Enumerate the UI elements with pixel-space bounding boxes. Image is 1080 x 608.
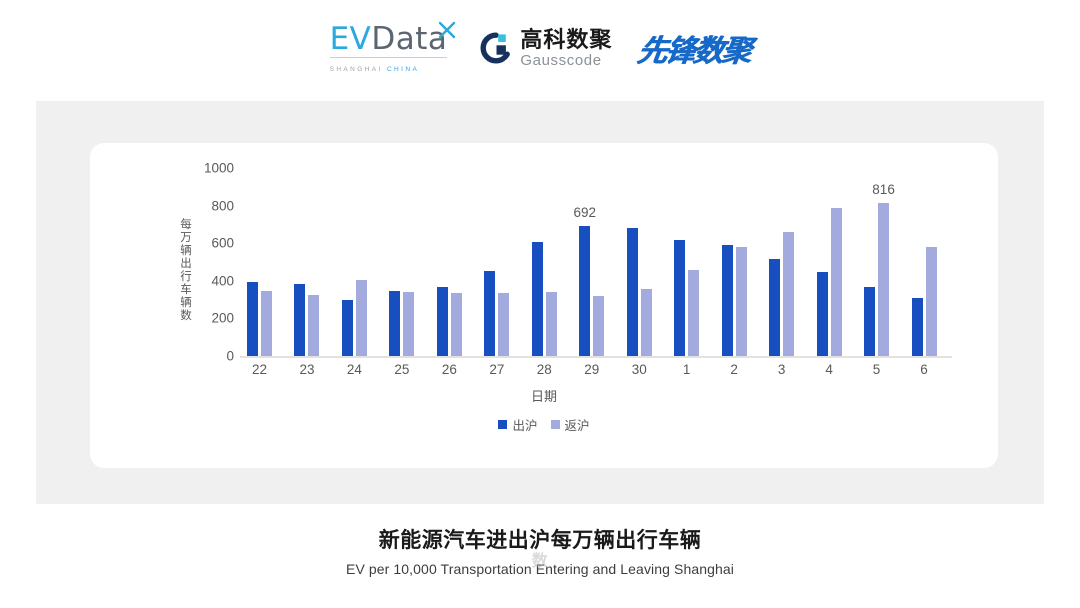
bar-group: [477, 168, 524, 356]
bar-出沪-26: [437, 287, 448, 356]
bar-出沪-2: [722, 245, 733, 356]
plot-area: 692816: [240, 168, 952, 356]
caption-title-cn: 新能源汽车进出沪每万辆出行车辆: [0, 528, 1080, 554]
x-axis-tick: 23: [299, 362, 314, 377]
bar-group: [620, 168, 667, 356]
chart-legend: 出沪返沪: [90, 415, 998, 434]
x-axis-title: 日期: [90, 386, 998, 405]
bar-group: [905, 168, 952, 356]
evdata-country: CHINA: [387, 66, 419, 73]
x-axis-tick: 6: [920, 362, 928, 377]
y-axis-tick: 0: [226, 349, 234, 364]
evdata-data-text: Data: [371, 21, 447, 57]
y-axis-title: 每万辆出行车辆数: [178, 219, 194, 323]
legend-item-出沪[interactable]: 出沪: [498, 415, 537, 434]
bar-返沪-30: [641, 289, 652, 356]
bar-出沪-6: [912, 298, 923, 356]
logo-bar: EVData SHANGHAI CHINA 高科数聚 Gausscode 先锋数…: [0, 0, 1080, 96]
bar-返沪-6: [926, 247, 937, 356]
bar-返沪-28: [546, 292, 557, 356]
x-axis-tick: 30: [632, 362, 647, 377]
x-axis-tick: 27: [489, 362, 504, 377]
bar-返沪-26: [451, 293, 462, 356]
legend-label: 返沪: [565, 415, 590, 434]
evdata-wordmark: EVData: [330, 24, 448, 55]
bar-group: [335, 168, 382, 356]
bar-出沪-4: [817, 272, 828, 356]
x-axis-tick: 29: [584, 362, 599, 377]
bar-group: [525, 168, 572, 356]
logo-xianfeng: 先锋数聚: [635, 26, 753, 70]
y-axis-tick: 400: [211, 273, 234, 288]
bar-value-label: 692: [574, 205, 597, 220]
bar-出沪-22: [247, 282, 258, 356]
bar-出沪-3: [769, 259, 780, 356]
bar-group: [287, 168, 334, 356]
bar-返沪-2: [736, 247, 747, 356]
bar-返沪-4: [831, 208, 842, 356]
bar-group: [240, 168, 287, 356]
gausscode-c-mark-icon: [479, 31, 513, 65]
caption-subtitle-en: EV per 10,000 Transportation Entering an…: [0, 561, 1080, 577]
bar-group: [382, 168, 429, 356]
y-axis-tick: 800: [211, 198, 234, 213]
x-cross-icon: [437, 20, 457, 40]
bar-返沪-29: [593, 296, 604, 356]
legend-label: 出沪: [512, 415, 537, 434]
x-axis-tick-labels: 222324252627282930123456: [240, 362, 952, 384]
bar-出沪-25: [389, 291, 400, 356]
bar-返沪-25: [403, 292, 414, 356]
bar-出沪-27: [484, 271, 495, 356]
chart-card: 每万辆出行车辆数 02004006008001000 692816 222324…: [90, 143, 998, 468]
gausscode-text: 高科数聚 Gausscode: [520, 29, 612, 68]
evdata-divider: [330, 57, 448, 58]
bar-返沪-27: [498, 293, 509, 356]
x-axis-tick: 5: [873, 362, 881, 377]
caption-block: 新能源汽车进出沪每万辆出行车辆 数 EV per 10,000 Transpor…: [0, 528, 1080, 577]
evdata-city: SHANGHAI: [330, 66, 383, 73]
legend-swatch-icon: [551, 420, 560, 429]
bar-返沪-5: [878, 203, 889, 356]
x-axis-tick: 22: [252, 362, 267, 377]
x-axis-line: [240, 356, 952, 358]
evdata-subtitle: SHANGHAI CHINA: [330, 66, 420, 73]
bar-返沪-1: [688, 270, 699, 356]
bar-group: [762, 168, 809, 356]
bar-出沪-30: [627, 228, 638, 356]
bar-chart: 每万辆出行车辆数 02004006008001000 692816 222324…: [90, 143, 998, 468]
bar-返沪-23: [308, 295, 319, 356]
legend-item-返沪[interactable]: 返沪: [551, 415, 590, 434]
bar-出沪-29: [579, 226, 590, 356]
bar-value-label: 816: [872, 182, 895, 197]
bar-group: [715, 168, 762, 356]
y-axis-tick: 600: [211, 236, 234, 251]
x-axis-tick: 26: [442, 362, 457, 377]
y-axis-tick: 1000: [204, 161, 234, 176]
bar-出沪-28: [532, 242, 543, 356]
bar-出沪-1: [674, 240, 685, 356]
bar-group: [667, 168, 714, 356]
gausscode-en-text: Gausscode: [520, 53, 612, 68]
bar-返沪-3: [783, 232, 794, 356]
bar-出沪-5: [864, 287, 875, 356]
x-axis-tick: 28: [537, 362, 552, 377]
evdata-ev-text: EV: [330, 21, 372, 57]
x-axis-tick: 24: [347, 362, 362, 377]
bar-出沪-23: [294, 284, 305, 356]
legend-swatch-icon: [498, 420, 507, 429]
bar-出沪-24: [342, 300, 353, 356]
bar-group: [430, 168, 477, 356]
bar-返沪-22: [261, 291, 272, 356]
x-axis-tick: 3: [778, 362, 786, 377]
y-axis-tick-labels: 02004006008001000: [194, 168, 234, 368]
bar-返沪-24: [356, 280, 367, 356]
logo-evdata: EVData SHANGHAI CHINA: [330, 24, 454, 73]
logo-gausscode: 高科数聚 Gausscode: [479, 29, 612, 68]
gausscode-cn-text: 高科数聚: [520, 29, 612, 51]
bar-group: [572, 168, 619, 356]
y-axis-tick: 200: [211, 311, 234, 326]
x-axis-tick: 2: [730, 362, 738, 377]
x-axis-tick: 1: [683, 362, 691, 377]
x-axis-tick: 25: [394, 362, 409, 377]
x-axis-tick: 4: [825, 362, 833, 377]
bar-group: [810, 168, 857, 356]
